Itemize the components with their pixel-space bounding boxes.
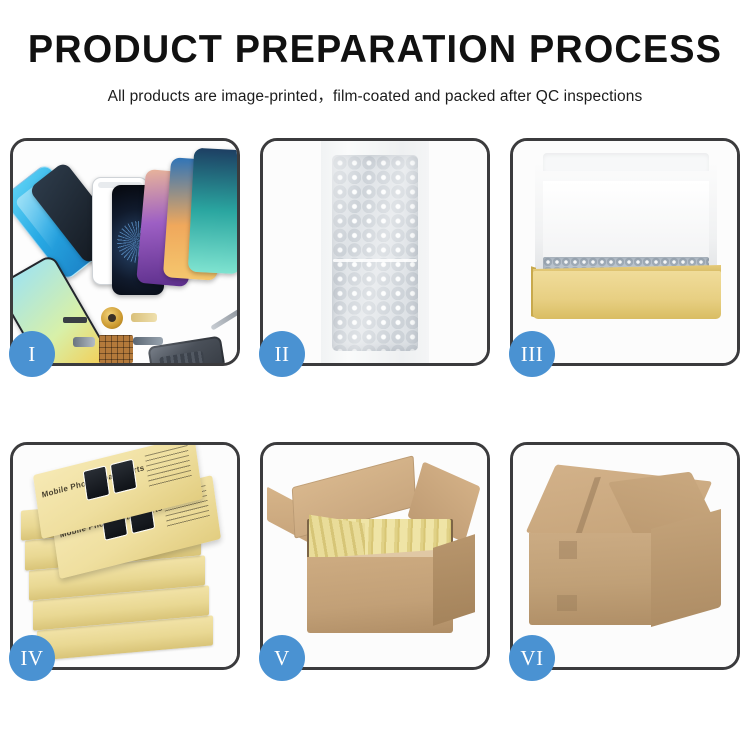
bubble-wrap-icon	[332, 155, 418, 351]
step-6-illustration	[513, 445, 737, 667]
carton-hand-hole-upper	[559, 541, 577, 559]
step-5-illustration	[263, 445, 487, 667]
process-step-panel-2[interactable]: II	[260, 138, 490, 366]
step-badge-6: VI	[509, 635, 555, 681]
process-step-grid: I II III	[10, 138, 740, 670]
inner-box-lid-top-icon	[543, 153, 709, 171]
page-header: PRODUCT PREPARATION PROCESS All products…	[0, 0, 750, 106]
step-badge-3: III	[509, 331, 555, 377]
tweezers-tool-icon	[210, 308, 237, 330]
process-step-panel-1[interactable]: I	[10, 138, 240, 366]
sealed-carton-side-face	[651, 509, 721, 627]
box-artwork-phones-icon	[83, 459, 138, 501]
step-2-illustration	[263, 141, 487, 363]
process-step-panel-5[interactable]: V	[260, 442, 490, 670]
speaker-bar-part-icon	[63, 317, 87, 323]
step-badge-4: IV	[9, 635, 55, 681]
flex-cable-gray-icon	[133, 337, 163, 345]
flex-cable-gold-icon	[131, 313, 157, 322]
box-artwork-textlines	[145, 445, 192, 489]
process-step-panel-4[interactable]: Mobile Phone Spare Parts Mobile Phone Sp…	[10, 442, 240, 670]
step-1-illustration	[13, 141, 237, 363]
step-badge-5: V	[259, 635, 305, 681]
flex-cable-short-icon	[73, 337, 95, 347]
phone-teal-screen-icon	[188, 148, 237, 275]
page-title: PRODUCT PREPARATION PROCESS	[11, 30, 739, 71]
carton-hand-hole-lower	[557, 595, 577, 611]
sealed-carton-front-face	[529, 533, 653, 625]
gold-coil-part-icon	[101, 307, 123, 329]
step-badge-2: II	[259, 331, 305, 377]
carton-side-face	[433, 534, 475, 626]
retail-box-stack: Mobile Phone Spare Parts Mobile Phone Sp…	[19, 459, 231, 655]
step-3-illustration	[513, 141, 737, 363]
foam-liner-icon	[543, 181, 709, 263]
carton-front-face	[307, 557, 453, 633]
process-step-panel-6[interactable]: VI	[510, 442, 740, 670]
page-subtitle: All products are image-printed，film-coat…	[0, 84, 750, 106]
step-4-illustration: Mobile Phone Spare Parts Mobile Phone Sp…	[13, 445, 237, 667]
screw-tray-icon	[99, 335, 133, 363]
step-badge-1: I	[9, 331, 55, 377]
process-step-panel-3[interactable]: III	[510, 138, 740, 366]
bubble-wrap-seam	[333, 259, 417, 262]
yellow-box-tray-icon	[533, 271, 721, 319]
